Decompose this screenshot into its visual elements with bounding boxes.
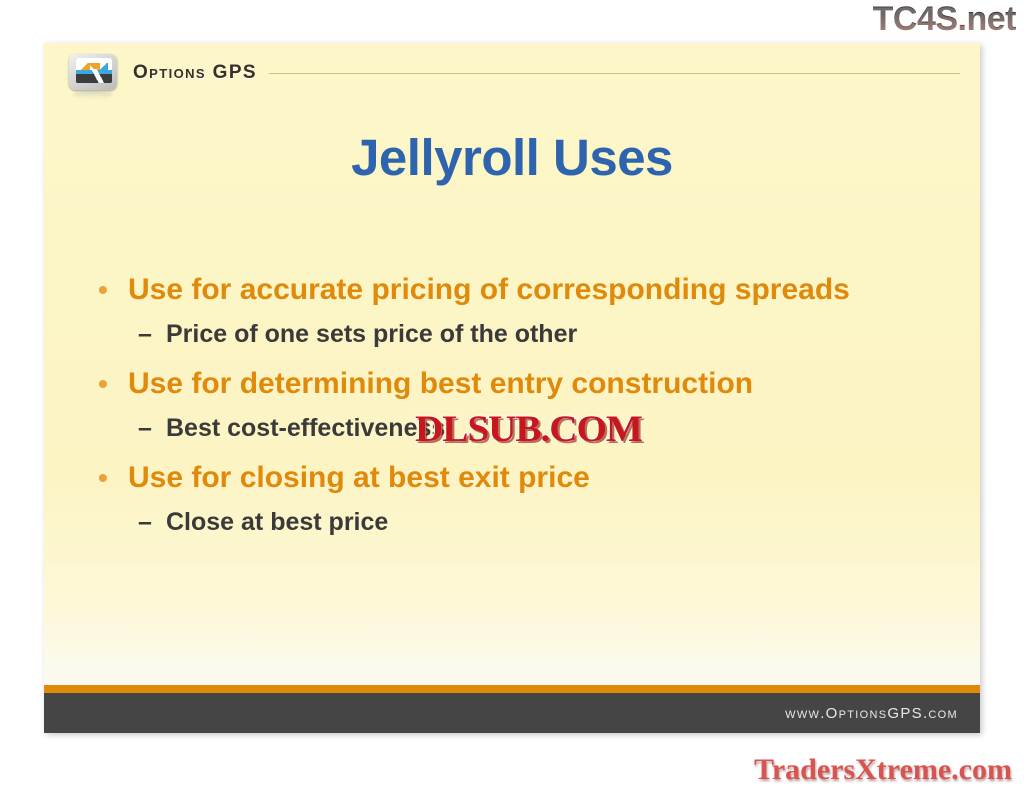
bullet-marker: • bbox=[94, 362, 128, 406]
bullet-marker: • bbox=[94, 456, 128, 500]
footer-url-label: www.OptionsGPS.com bbox=[785, 705, 958, 722]
tradersxtreme-watermark: TradersXtreme.com bbox=[754, 755, 1012, 785]
screen-road bbox=[84, 69, 110, 83]
bullet-text: Use for closing at best exit price bbox=[128, 456, 590, 500]
subbullet-text: Best cost-effectiveness bbox=[166, 408, 445, 448]
subbullet-text: Close at best price bbox=[166, 502, 388, 542]
list-item: – Close at best price bbox=[94, 502, 960, 542]
dlsub-watermark: DLSUB.COM bbox=[415, 411, 642, 448]
bullet-marker: • bbox=[94, 268, 128, 312]
subbullet-marker: – bbox=[138, 502, 166, 542]
tc4s-watermark: TC4S.net bbox=[873, 2, 1016, 36]
slide-header: Options GPS bbox=[44, 43, 980, 103]
bullet-text: Use for determining best entry construct… bbox=[128, 362, 753, 406]
presentation-slide: Options GPS Jellyroll Uses • Use for acc… bbox=[44, 43, 980, 733]
header-divider bbox=[269, 73, 960, 74]
footer-accent-line bbox=[44, 685, 980, 693]
subbullet-text: Price of one sets price of the other bbox=[166, 314, 577, 354]
list-item: – Price of one sets price of the other bbox=[94, 314, 960, 354]
gps-device-screen bbox=[76, 58, 112, 83]
gps-device-icon bbox=[67, 52, 119, 94]
list-item: • Use for closing at best exit price bbox=[94, 456, 960, 500]
list-item: • Use for determining best entry constru… bbox=[94, 362, 960, 406]
page-title: Jellyroll Uses bbox=[44, 128, 980, 187]
list-item: • Use for accurate pricing of correspond… bbox=[94, 268, 960, 312]
subbullet-marker: – bbox=[138, 408, 166, 448]
brand-label: Options GPS bbox=[133, 62, 257, 84]
subbullet-marker: – bbox=[138, 314, 166, 354]
slide-footer: www.OptionsGPS.com bbox=[44, 693, 980, 733]
bullet-text: Use for accurate pricing of correspondin… bbox=[128, 268, 850, 312]
gps-device-reflection bbox=[73, 91, 113, 99]
